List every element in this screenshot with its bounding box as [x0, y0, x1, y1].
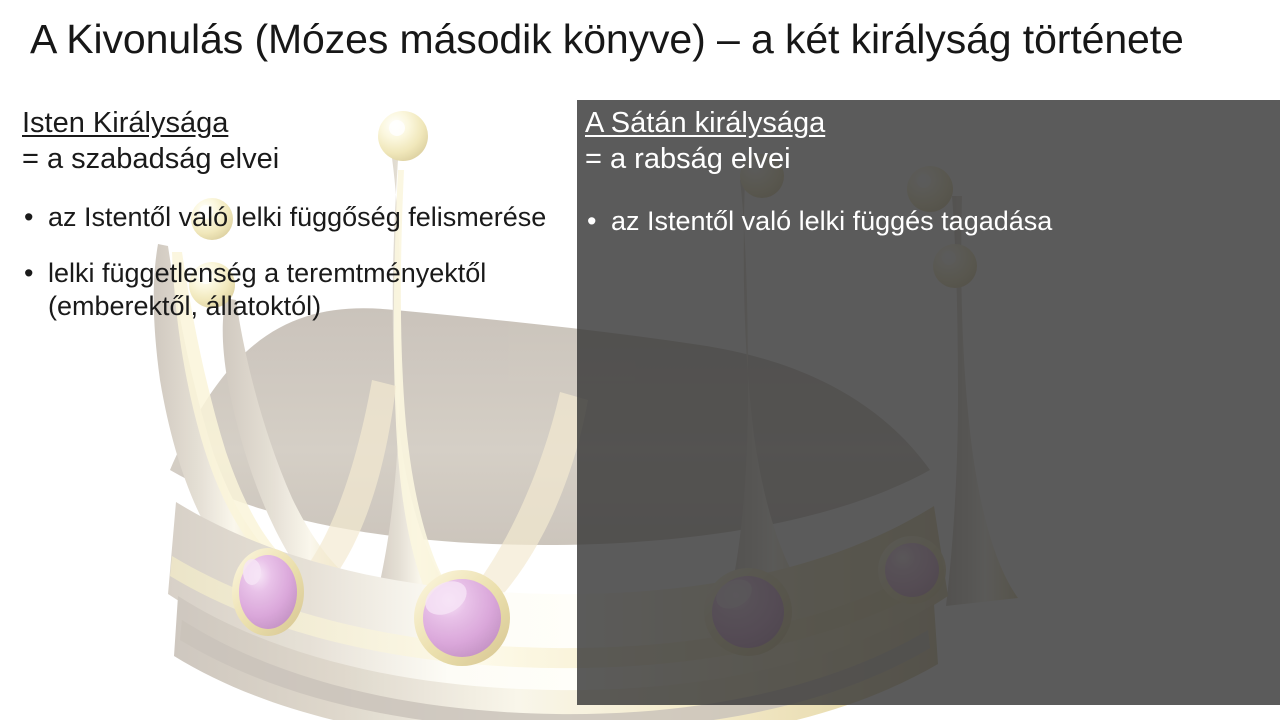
bullet-dot-icon: • — [24, 257, 33, 290]
satan-kingdom-column: A Sátán királysága = a rabság elvei • az… — [585, 106, 1265, 239]
list-item-text: az Istentől való lelki függőség felismer… — [48, 202, 546, 232]
satan-kingdom-bullet-list: • az Istentől való lelki függés tagadása — [585, 205, 1265, 238]
list-item: • lelki függetlenség a teremtményektől (… — [22, 257, 567, 324]
gods-kingdom-heading: Isten Királysága — [22, 106, 228, 141]
slide-title: A Kivonulás (Mózes második könyve) – a k… — [30, 16, 1250, 63]
list-item: • az Istentől való lelki függés tagadása — [585, 205, 1265, 238]
satan-kingdom-subheading: = a rabság elvei — [585, 141, 1265, 179]
gods-kingdom-bullet-list: • az Istentől való lelki függőség felism… — [22, 201, 567, 323]
bullet-dot-icon: • — [24, 201, 33, 234]
list-item: • az Istentől való lelki függőség felism… — [22, 201, 567, 234]
list-item-text: lelki függetlenség a teremtményektől (em… — [48, 258, 486, 321]
list-item-text: az Istentől való lelki függés tagadása — [611, 206, 1052, 236]
bullet-dot-icon: • — [587, 205, 596, 238]
gods-kingdom-column: Isten Királysága = a szabadság elvei • a… — [22, 106, 567, 323]
satan-kingdom-heading: A Sátán királysága — [585, 106, 825, 141]
gods-kingdom-subheading: = a szabadság elvei — [22, 141, 567, 179]
slide-canvas: A Kivonulás (Mózes második könyve) – a k… — [0, 0, 1280, 720]
